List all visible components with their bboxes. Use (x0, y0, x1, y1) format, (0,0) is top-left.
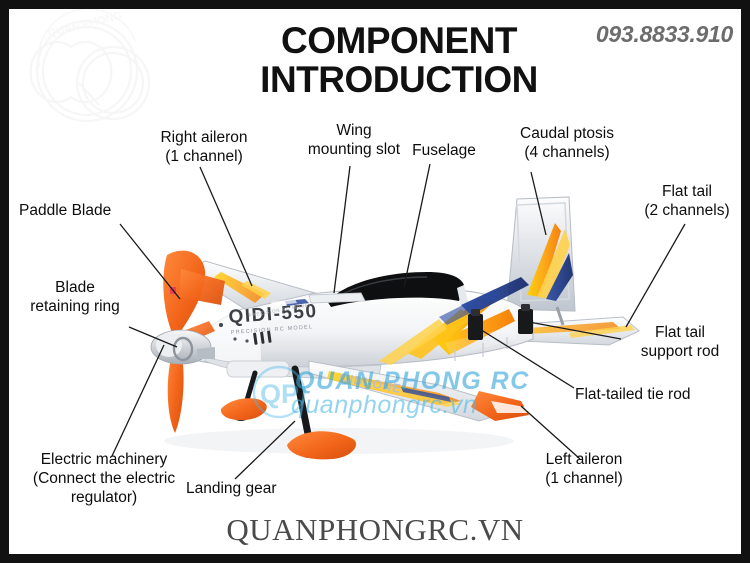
callout-paddle-blade: Paddle Blade (19, 201, 169, 220)
callout-fuselage: Fuselage (394, 141, 494, 160)
callout-right-aileron: Right aileron (1 channel) (119, 128, 289, 166)
callout-left-aileron: Left aileron (1 channel) (514, 450, 654, 488)
callout-landing-gear: Landing gear (186, 479, 326, 498)
footer-website: QUANPHONGRC.VN (9, 512, 741, 548)
callout-flat-tail-support-rod: Flat tail support rod (617, 323, 741, 361)
callout-blade-retaining-ring: Blade retaining ring (9, 278, 141, 316)
callout-flat-tail: Flat tail (2 channels) (631, 182, 741, 220)
poster-canvas: QUAN PHONG COMPONENT INTRODUCTION 093.88… (9, 9, 741, 554)
callout-electric-machinery: Electric machinery (Connect the electric… (11, 450, 197, 507)
callout-flat-tailed-tie-rod: Flat-tailed tie rod (575, 385, 741, 404)
image-frame: QUAN PHONG COMPONENT INTRODUCTION 093.88… (0, 0, 750, 563)
callout-caudal-ptosis: Caudal ptosis (4 channels) (487, 124, 647, 162)
